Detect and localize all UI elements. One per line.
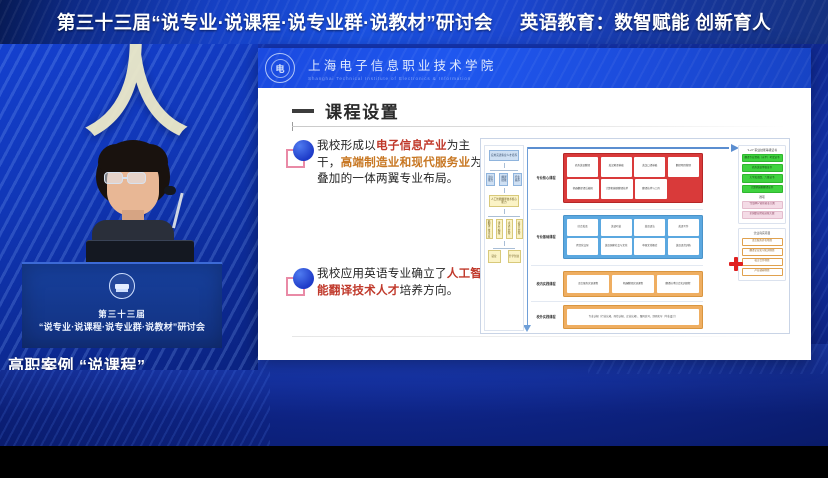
event-title-bar: 第三十三届“说专业·说课程·说专业群·说教材”研讨会 英语教育：数智赋能 创新育…	[0, 0, 828, 44]
speaker-fringe	[98, 144, 168, 172]
enterprise-project-card: 企业真实项目 语言服务外包项目 翻译企业实习实训项目 校企合作项目 产业调研项目	[738, 228, 786, 281]
certificate-card-title: “1+X” 职业技能等级证书	[742, 149, 783, 152]
row-chip-line: 综合英语 英语听说 英语语法 英语写作	[567, 219, 699, 236]
course-chip: 英语听说	[601, 219, 632, 236]
certificate-chip: 计算机辅助翻译证书	[742, 185, 783, 193]
row-separator	[531, 209, 703, 210]
row-chip-line: 专业认知（行业认知、岗位认知、企业认知）、跟岗实习、顶岗实习（毕业设计）	[567, 309, 699, 325]
bullet-item-1: 我校形成以电子信息产业为主干，高端制造业和现代服务业为叠加的一体两翼专业布局。	[284, 138, 484, 188]
course-chip: 中国文化概论	[634, 238, 665, 255]
podium-emblem-icon	[109, 273, 135, 299]
plus-icon	[729, 257, 743, 271]
diagram-vertical-arrowhead	[523, 325, 531, 332]
flow-connector-h	[493, 248, 515, 249]
flow-node: 项目管理	[516, 219, 523, 239]
course-chip: 专业认知（行业认知、岗位认知、企业认知）、跟岗实习、顶岗实习（毕业设计）	[567, 309, 699, 325]
page-title: 课程设置	[325, 98, 399, 123]
bullet-marker-icon	[284, 268, 312, 296]
row-label: 校外实践课程	[531, 315, 561, 319]
lower-third-caption: 高职案例 “说课程” 上海电子信息职业技术学院 曾晶	[0, 350, 258, 370]
course-chip: 机器翻译实训课程	[612, 275, 654, 293]
competition-subtitle: 赛项	[742, 195, 783, 199]
flow-node: 译后编辑	[496, 219, 503, 239]
course-row-core: 专业核心课程 商务英语翻译 英汉笔译基础 英汉口译基础 翻译项目管理 机器翻译译…	[531, 153, 703, 203]
slide-footer-rule	[292, 336, 784, 337]
course-chip: 翻译技术综合实训课程	[657, 275, 699, 293]
course-chip: 英汉笔译基础	[601, 157, 632, 177]
plus-vertical-bar	[734, 257, 738, 271]
course-chip: 翻译技术与工具	[635, 179, 667, 199]
university-name-en: Shanghai Technical Institute of Electron…	[308, 76, 496, 81]
row-label: 校内实践课程	[531, 282, 561, 286]
presentation-slide: 电 上海电子信息职业技术学院 Shanghai Technical Instit…	[258, 48, 811, 360]
slide-header-band: 电 上海电子信息职业技术学院 Shanghai Technical Instit…	[258, 48, 811, 88]
flow-node: 升学创业	[508, 250, 521, 263]
flow-connector	[504, 163, 505, 168]
speaker-glasses-left	[104, 172, 123, 184]
course-chip: 英语国家社会与文化	[601, 238, 632, 255]
bullet-circle-icon	[293, 268, 314, 289]
speaker-figure	[78, 140, 188, 250]
flow-node: 翻译技能	[499, 173, 508, 186]
title-bar-text: 第三十三届“说专业·说课程·说专业群·说教材”研讨会 英语教育：数智赋能 创新育…	[57, 9, 771, 35]
certification-and-project-column: “1+X” 职业技能等级证书 翻译专业资格（水平）考试证书 商务英语等级证书 大…	[738, 145, 786, 285]
certificate-chip: 翻译专业资格（水平）考试证书	[742, 154, 783, 162]
diagram-vertical-axis	[527, 147, 528, 327]
flow-connector-h	[490, 170, 518, 171]
enterprise-card-title: 企业真实项目	[742, 232, 783, 235]
course-row-oncampus: 校内实践课程 语言服务实训课程 机器翻译实训课程 翻译技术综合实训课程	[531, 271, 703, 297]
project-chip: 校企合作项目	[742, 258, 783, 266]
course-chip: 英汉口译基础	[634, 157, 665, 177]
curriculum-structure-diagram: 应用英语专业人才培养 语言能力 翻译技能 行业素养 人工智能翻译技术核心能力 机…	[480, 138, 790, 334]
flow-level-2: 语言能力 翻译技能 行业素养	[485, 173, 523, 186]
course-chip: 商务英语翻译	[567, 157, 598, 177]
bullet1-seg1: 我校形成以	[317, 139, 376, 152]
certificate-chip: 商务英语等级证书	[742, 164, 783, 172]
flow-node: 机器翻译技术应用	[486, 219, 493, 239]
flow-node: 语言能力	[486, 173, 495, 186]
bullet-text-1: 我校形成以电子信息产业为主干，高端制造业和现代服务业为叠加的一体两翼专业布局。	[317, 138, 484, 188]
title-rule	[292, 126, 787, 127]
letterbox-bar	[0, 446, 828, 478]
course-chip: 语言服务实训课程	[567, 275, 609, 293]
arrow-line	[527, 147, 729, 149]
bullet-item-2: 我校应用英语专业确立了人工智能翻译技术人才培养方向。	[284, 266, 484, 299]
flow-connector	[504, 241, 505, 246]
course-chip: 英语写作	[668, 219, 699, 236]
slide-content-area: 课程设置 我校形成以电子信息产业为主干，高端制造业和现代服务业为叠加的一体两翼专…	[258, 88, 811, 360]
bullet-text-2: 我校应用英语专业确立了人工智能翻译技术人才培养方向。	[317, 266, 484, 299]
speaker-glasses-bridge	[123, 177, 128, 179]
course-chip: 机器翻译译后编辑	[567, 179, 599, 199]
university-name-block: 上海电子信息职业技术学院 Shanghai Technical Institut…	[308, 55, 496, 81]
course-chip: 英语语法	[634, 219, 665, 236]
crest-inner-glyph: 电	[271, 59, 290, 78]
project-chip: 产业调研项目	[742, 268, 783, 276]
bullet2-seg1: 我校应用英语专业确立了	[317, 267, 447, 280]
certificate-chip: 大学英语四、六级证书	[742, 174, 783, 182]
flow-connector	[504, 188, 505, 193]
bullet-circle-icon	[293, 140, 314, 161]
row-band-foundation: 综合英语 英语听说 英语语法 英语写作 跨文化交际 英语国家社会与文化 中国文化…	[563, 215, 703, 259]
course-row-foundation: 专业基础课程 综合英语 英语听说 英语语法 英语写作 跨文化交际 英语国家社会与…	[531, 215, 703, 259]
screen: 第三十三届“说专业·说课程·说专业群·说教材”研讨会 英语教育：数智赋能 创新育…	[0, 0, 828, 478]
title-bar-sub: 英语教育：数智赋能 创新育人	[520, 12, 771, 33]
row-chip-line: 商务英语翻译 英汉笔译基础 英汉口译基础 翻译项目管理	[567, 157, 699, 177]
flow-connector-h	[488, 216, 520, 217]
podium-sign: 第三十三届 “说专业·说课程·说专业群·说教材”研讨会	[22, 262, 222, 348]
course-chip: 综合英语	[567, 219, 598, 236]
project-chip: 语言服务外包项目	[742, 238, 783, 246]
row-chip-line: 语言服务实训课程 机器翻译实训课程 翻译技术综合实训课程	[567, 275, 699, 293]
flow-top-node: 应用英语专业人才培养	[489, 150, 519, 161]
talent-pathway-flow: 应用英语专业人才培养 语言能力 翻译技能 行业素养 人工智能翻译技术核心能力 机…	[484, 145, 524, 331]
bullet1-seg4: 高端制造业和现代服务业	[341, 156, 471, 169]
graduation-cap-icon	[115, 284, 129, 289]
flow-node: 术语管理	[506, 219, 513, 239]
row-separator	[531, 265, 703, 266]
row-band-core: 商务英语翻译 英汉笔译基础 英汉口译基础 翻译项目管理 机器翻译译后编辑 计算机…	[563, 153, 703, 203]
speaker-glasses-right	[127, 172, 146, 184]
row-label: 专业核心课程	[531, 176, 561, 180]
competition-chip: 全国职业院校技能大赛	[742, 211, 783, 219]
bullet-marker-icon	[284, 140, 312, 168]
row-chip-line: 机器翻译译后编辑 计算机辅助翻译技术 翻译技术与工具	[567, 179, 699, 199]
row-chip-line: 跨文化交际 英语国家社会与文化 中国文化概论 英语语音训练	[567, 238, 699, 255]
course-chip: 英语语音训练	[668, 238, 699, 255]
course-row-offcampus: 校外实践课程 专业认知（行业认知、岗位认知、企业认知）、跟岗实习、顶岗实习（毕业…	[531, 305, 703, 329]
caption-title: 高职案例 “说课程”	[0, 350, 258, 370]
row-band-oncampus: 语言服务实训课程 机器翻译实训课程 翻译技术综合实训课程	[563, 271, 703, 297]
progression-arrow-icon	[527, 144, 739, 151]
competition-chip: “互联网+”创新创业大赛	[742, 201, 783, 209]
speaker-video-panel: 人 第三十三届 “说专业·说课程·说专业群·说教材”研讨会 高职案例 “说课程”…	[0, 44, 258, 370]
course-chip: 跨文化交际	[567, 238, 598, 255]
title-bar-main: 第三十三届“说专业·说课程·说专业群·说教材”研讨会	[57, 12, 493, 33]
row-separator	[531, 301, 703, 302]
row-band-offcampus: 专业认知（行业认知、岗位认知、企业认知）、跟岗实习、顶岗实习（毕业设计）	[563, 305, 703, 329]
course-chip: 翻译项目管理	[668, 157, 699, 177]
flow-level-4: 就业 升学创业	[485, 250, 523, 263]
flow-mid-node: 人工智能翻译技术核心能力	[489, 195, 519, 207]
course-chip: 计算机辅助翻译技术	[601, 179, 633, 199]
backdrop-glyph: 人	[76, 44, 196, 154]
university-name-cn: 上海电子信息职业技术学院	[308, 55, 496, 74]
slide-title-group: 课程设置	[292, 98, 399, 123]
row-label: 专业基础课程	[531, 235, 561, 239]
bullet1-seg2: 电子信息产业	[376, 139, 447, 152]
university-crest-icon: 电	[265, 53, 295, 83]
certificate-card: “1+X” 职业技能等级证书 翻译专业资格（水平）考试证书 商务英语等级证书 大…	[738, 145, 786, 224]
podium-line-2: “说专业·说课程·说专业群·说教材”研讨会	[22, 320, 222, 333]
flow-level-3: 机器翻译技术应用 译后编辑 术语管理 项目管理	[485, 219, 523, 239]
flow-node: 就业	[488, 250, 501, 263]
flow-node: 行业素养	[513, 173, 522, 186]
podium-line-1: 第三十三届	[22, 308, 222, 320]
flow-connector	[504, 209, 505, 214]
microphone-head-icon	[164, 186, 176, 195]
bullet2-seg3: 培养方向。	[400, 284, 459, 297]
project-chip: 翻译企业实习实训项目	[742, 248, 783, 256]
slide-title-dash	[292, 109, 314, 113]
chip-spacer	[669, 179, 699, 199]
